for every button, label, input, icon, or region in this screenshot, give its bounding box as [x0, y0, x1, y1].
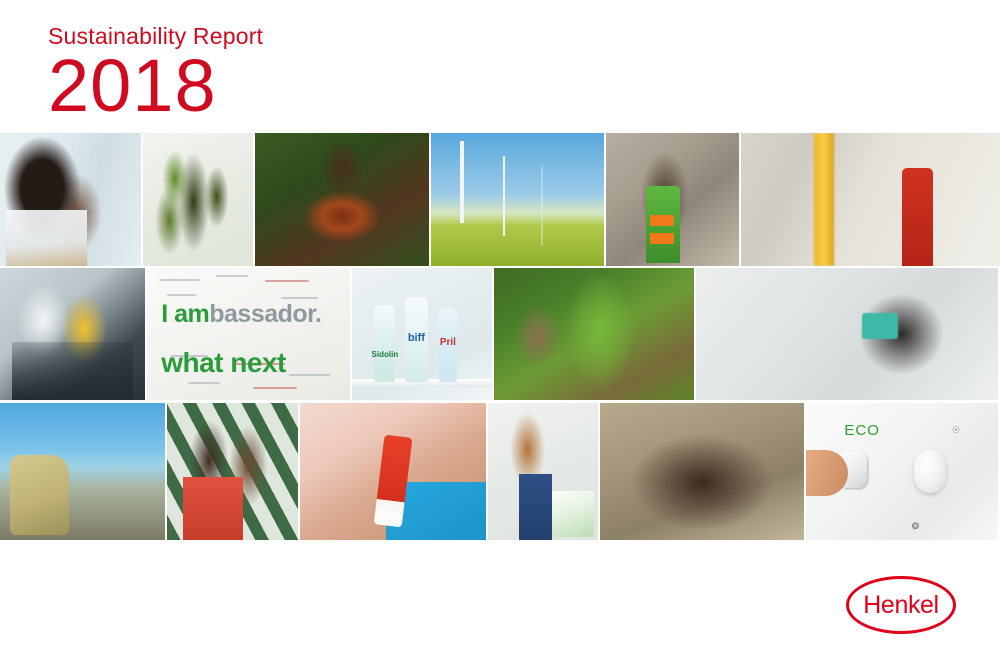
photo-tile-recycling-worker: [606, 133, 739, 266]
report-cover: Sustainability Report 2018: [0, 0, 1000, 667]
biff-label: biff: [408, 332, 425, 344]
habitat-volunteers-image: [0, 268, 145, 400]
photo-row-1: [0, 133, 1000, 266]
hand-wash-icon: ☉: [952, 425, 960, 436]
spin-icon: ❂: [912, 521, 920, 532]
cleaning-products-image: Sidolin biff Pril: [352, 268, 492, 400]
children-brushing-image: [600, 403, 804, 540]
lab-scientists-image: [696, 268, 998, 400]
photo-tile-girl-drawing: [488, 403, 598, 540]
lab-kids-image: [0, 133, 141, 266]
recycling-worker-image: [606, 133, 739, 266]
sidolin-label: Sidolin: [372, 350, 399, 359]
photo-tile-lab-scientists: [696, 268, 998, 400]
photo-tile-wind-turbine: [431, 133, 604, 266]
photo-tile-plant-engineers: [741, 133, 1000, 266]
pril-bottle: Pril: [439, 308, 457, 382]
plant-engineers-image: [741, 133, 1000, 266]
photo-row-2: I ambassador. what next Sidolin biff: [0, 268, 1000, 400]
title-block: Sustainability Report 2018: [48, 24, 648, 123]
photo-tile-pritt-glue: [300, 403, 486, 540]
photo-tile-cleaning-products: Sidolin biff Pril: [352, 268, 492, 400]
nature-box-image: [143, 133, 253, 266]
two-children-image: [167, 403, 298, 540]
report-year: 2018: [48, 50, 648, 123]
logo-ellipse-icon: Henkel: [846, 576, 956, 634]
photo-tile-nature-box: [143, 133, 253, 266]
girl-drawing-image: [488, 403, 598, 540]
pril-label: Pril: [440, 337, 456, 348]
biff-bottle: biff: [405, 297, 427, 381]
palm-nursery-image: [494, 268, 694, 400]
eco-panel-image: ECO ☉ ❂: [806, 403, 998, 540]
photo-tile-two-children: [167, 403, 298, 540]
photo-tile-palm-nursery: [494, 268, 694, 400]
signature-wall-image: I ambassador. what next: [147, 268, 350, 400]
wall-scribbles: [147, 268, 350, 400]
beach-cleanup-image: [0, 403, 165, 540]
photo-tile-children-brushing: [600, 403, 804, 540]
finger: [806, 450, 848, 497]
photo-tile-palm-fruit: [255, 133, 429, 266]
photo-tile-beach-cleanup: [0, 403, 165, 540]
logo-text: Henkel: [863, 593, 938, 618]
program-knob: [914, 450, 947, 494]
photo-tile-lab-kids: [0, 133, 141, 266]
pritt-glue-image: [300, 403, 486, 540]
palm-fruit-image: [255, 133, 429, 266]
wind-turbine-image: [431, 133, 604, 266]
henkel-logo: Henkel: [846, 576, 956, 634]
eco-button-label: ECO: [844, 422, 880, 439]
photo-tile-habitat-volunteers: [0, 268, 145, 400]
sidolin-bottle: Sidolin: [374, 305, 395, 382]
photo-row-3: ECO ☉ ❂: [0, 403, 1000, 540]
photo-mosaic: I ambassador. what next Sidolin biff: [0, 133, 1000, 540]
photo-tile-eco-button: ECO ☉ ❂: [806, 403, 998, 540]
photo-tile-signature-wall: I ambassador. what next: [147, 268, 350, 400]
